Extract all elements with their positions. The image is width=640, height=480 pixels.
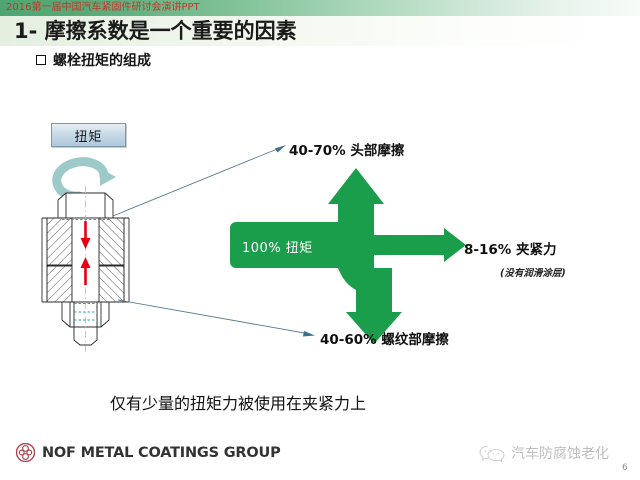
slide: 2016第一届中国汽车紧固件研讨会演讲PPT 1- 摩擦系数是一个重要的因素 螺… xyxy=(0,0,640,480)
torque-split-arrow xyxy=(230,168,466,344)
rotation-arrow-icon xyxy=(57,162,116,196)
label-input-torque: 100% 扭矩 xyxy=(242,237,313,256)
label-clamp-note: (没有润滑涂层) xyxy=(500,265,566,279)
label-clamp-force: 8-16% 夹紧力 xyxy=(464,238,557,258)
nof-flower-logo-icon xyxy=(16,443,35,462)
wechat-account-name: 汽车防腐蚀老化 xyxy=(511,443,609,463)
label-head-friction: 40-70% 头部摩擦 xyxy=(289,139,404,159)
wechat-footer: 汽车防腐蚀老化 xyxy=(479,443,609,463)
conclusion-text: 仅有少量的扭矩力被使用在夹紧力上 xyxy=(110,390,366,414)
page-number: 6 xyxy=(622,463,628,473)
wechat-icon xyxy=(479,444,505,462)
brand-name: NOF METAL COATINGS GROUP xyxy=(42,445,281,461)
label-thread-friction: 40-60% 螺纹部摩擦 xyxy=(320,328,449,348)
brand-footer: NOF METAL COATINGS GROUP xyxy=(16,443,281,462)
bolt-cross-section xyxy=(42,186,129,352)
